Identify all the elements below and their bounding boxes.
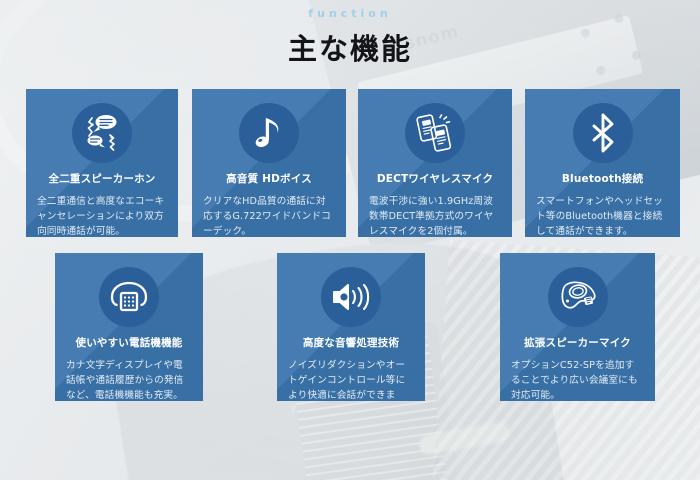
feature-card-expansion-speaker-mic[interactable]: 拡張スピーカーマイク オプションC52-SPを追加することでより広い会議室にも対… — [500, 253, 655, 401]
feature-card-body: ノイズリダクションやオートゲインコントロール等により快適に会話ができます。 — [288, 358, 414, 418]
feature-card-title: Bluetooth接続 — [562, 173, 643, 186]
feature-card-title: 高度な音響処理技術 — [303, 337, 399, 350]
feature-card-body: カナ文字ディスプレイや電話帳や通話履歴からの発信など、電話機機能も充実。 — [66, 358, 192, 403]
feature-card-body: スマートフォンやヘッドセット等のBluetooth機器と接続して通話ができます。 — [536, 194, 669, 239]
bluetooth-icon — [573, 103, 633, 163]
feature-card-title: 高音質 HDボイス — [226, 173, 312, 186]
feature-card-full-duplex-speakerphone[interactable]: 全二重スピーカーホン 全二重通信と高度なエコーキャンセレーションにより双方向同時… — [26, 89, 178, 237]
feature-card-telephone-features[interactable]: 使いやすい電話機機能 カナ文字ディスプレイや電話帳や通話履歴からの発信など、電話… — [55, 253, 203, 401]
feature-card-body: 全二重通信と高度なエコーキャンセレーションにより双方向同時通話が可能。 — [37, 194, 167, 239]
music-note-icon — [239, 103, 299, 163]
page-header: function 主な機能 — [0, 0, 700, 68]
page-title: 主な機能 — [0, 26, 700, 68]
feature-card-body: 電波干渉に強い1.9GHz周波数帯DECT準拠方式のワイヤレスマイクを2個付属。 — [369, 194, 501, 239]
feature-card-body: オプションC52-SPを追加することでより広い会議室にも対応可能。 — [511, 358, 644, 403]
wireless-microphones-icon — [405, 103, 465, 163]
feature-card-bluetooth[interactable]: Bluetooth接続 スマートフォンやヘッドセット等のBluetooth機器と… — [525, 89, 680, 237]
feature-card-audio-processing[interactable]: 高度な音響処理技術 ノイズリダクションやオートゲインコントロール等により快適に会… — [277, 253, 425, 401]
feature-card-hd-voice[interactable]: 高音質 HDボイス クリアなHD品質の通話に対応するG.722ワイドバンドコーデ… — [192, 89, 346, 237]
telephone-icon — [99, 267, 159, 327]
feature-card-title: 全二重スピーカーホン — [49, 173, 156, 186]
feature-card-dect-wireless-mic[interactable]: DECTワイヤレスマイク 電波干渉に強い1.9GHz周波数帯DECT準拠方式のワ… — [358, 89, 512, 237]
feature-card-title: 使いやすい電話機機能 — [76, 337, 183, 350]
feature-card-title: DECTワイヤレスマイク — [377, 173, 493, 186]
feature-card-body: クリアなHD品質の通話に対応するG.722ワイドバンドコーデック。 — [203, 194, 335, 239]
feature-card-title: 拡張スピーカーマイク — [524, 337, 631, 350]
conference-speakerphone-icon — [548, 267, 608, 327]
speaker-volume-icon — [321, 267, 381, 327]
speech-bubbles-two-heads-icon — [72, 103, 132, 163]
section-eyebrow-label: function — [0, 0, 700, 20]
